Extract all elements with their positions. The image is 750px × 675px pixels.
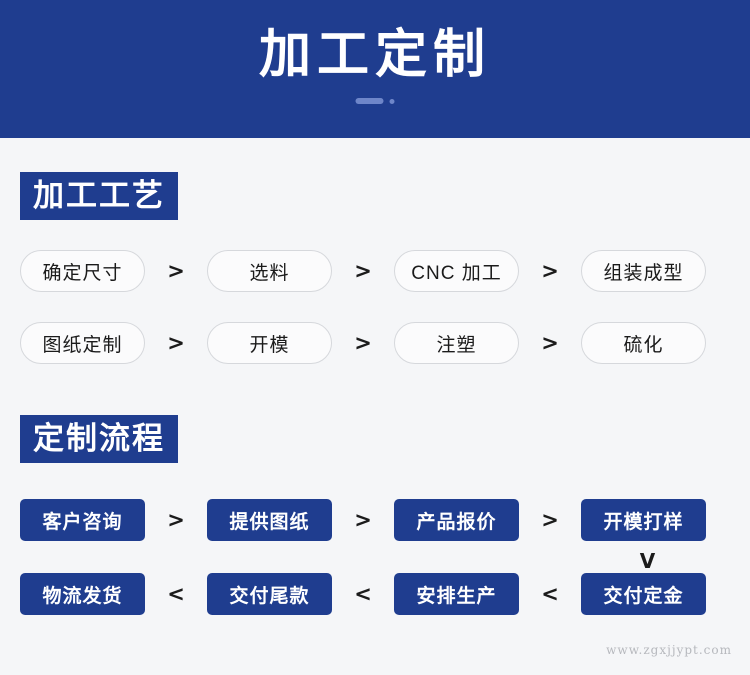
craft-row-2: 图纸定制 > 开模 > 注塑 > 硫化 xyxy=(20,322,730,364)
flow-down-arrow-icon: V xyxy=(585,551,710,571)
craft-separator-4: > xyxy=(145,322,207,364)
flow-separator-2: > xyxy=(332,499,394,541)
page-title: 加工定制 xyxy=(0,22,750,88)
craft-separator-5: > xyxy=(332,322,394,364)
deco-bar-icon xyxy=(356,98,384,104)
flow-separator-3: > xyxy=(519,499,581,541)
craft-step-7[interactable]: 注塑 xyxy=(394,322,519,364)
flow-step-2[interactable]: 提供图纸 xyxy=(207,499,332,541)
section-heading-craft: 加工工艺 xyxy=(20,172,178,220)
flow-row-1: 客户咨询 > 提供图纸 > 产品报价 > 开模打样 xyxy=(20,499,730,541)
deco-dot-icon xyxy=(390,99,395,104)
flow-step-6[interactable]: 安排生产 xyxy=(394,573,519,615)
craft-step-3[interactable]: CNC 加工 xyxy=(394,250,519,292)
flow-step-4[interactable]: 开模打样 xyxy=(581,499,706,541)
flow-step-5[interactable]: 交付定金 xyxy=(581,573,706,615)
craft-step-8[interactable]: 硫化 xyxy=(581,322,706,364)
page-content: 加工工艺 确定尺寸 > 选料 > CNC 加工 > 组装成型 图纸定制 > 开模… xyxy=(0,138,750,675)
craft-separator-3: > xyxy=(519,250,581,292)
banner-decoration xyxy=(356,98,395,104)
craft-row-1: 确定尺寸 > 选料 > CNC 加工 > 组装成型 xyxy=(20,250,730,292)
section-heading-flow: 定制流程 xyxy=(20,415,178,463)
flow-step-3[interactable]: 产品报价 xyxy=(394,499,519,541)
craft-step-5[interactable]: 图纸定制 xyxy=(20,322,145,364)
flow-separator-5: < xyxy=(332,573,394,615)
craft-step-6[interactable]: 开模 xyxy=(207,322,332,364)
craft-separator-1: > xyxy=(145,250,207,292)
flow-step-8[interactable]: 物流发货 xyxy=(20,573,145,615)
page-banner: 加工定制 xyxy=(0,0,750,138)
craft-step-1[interactable]: 确定尺寸 xyxy=(20,250,145,292)
craft-separator-2: > xyxy=(332,250,394,292)
craft-step-4[interactable]: 组装成型 xyxy=(581,250,706,292)
craft-separator-6: > xyxy=(519,322,581,364)
flow-separator-4: < xyxy=(145,573,207,615)
flow-separator-1: > xyxy=(145,499,207,541)
flow-step-7[interactable]: 交付尾款 xyxy=(207,573,332,615)
flow-separator-6: < xyxy=(519,573,581,615)
craft-step-2[interactable]: 选料 xyxy=(207,250,332,292)
watermark: www.zgxjjypt.com xyxy=(606,643,732,657)
flow-row-2: 物流发货 < 交付尾款 < 安排生产 < 交付定金 xyxy=(20,573,730,615)
flow-step-1[interactable]: 客户咨询 xyxy=(20,499,145,541)
